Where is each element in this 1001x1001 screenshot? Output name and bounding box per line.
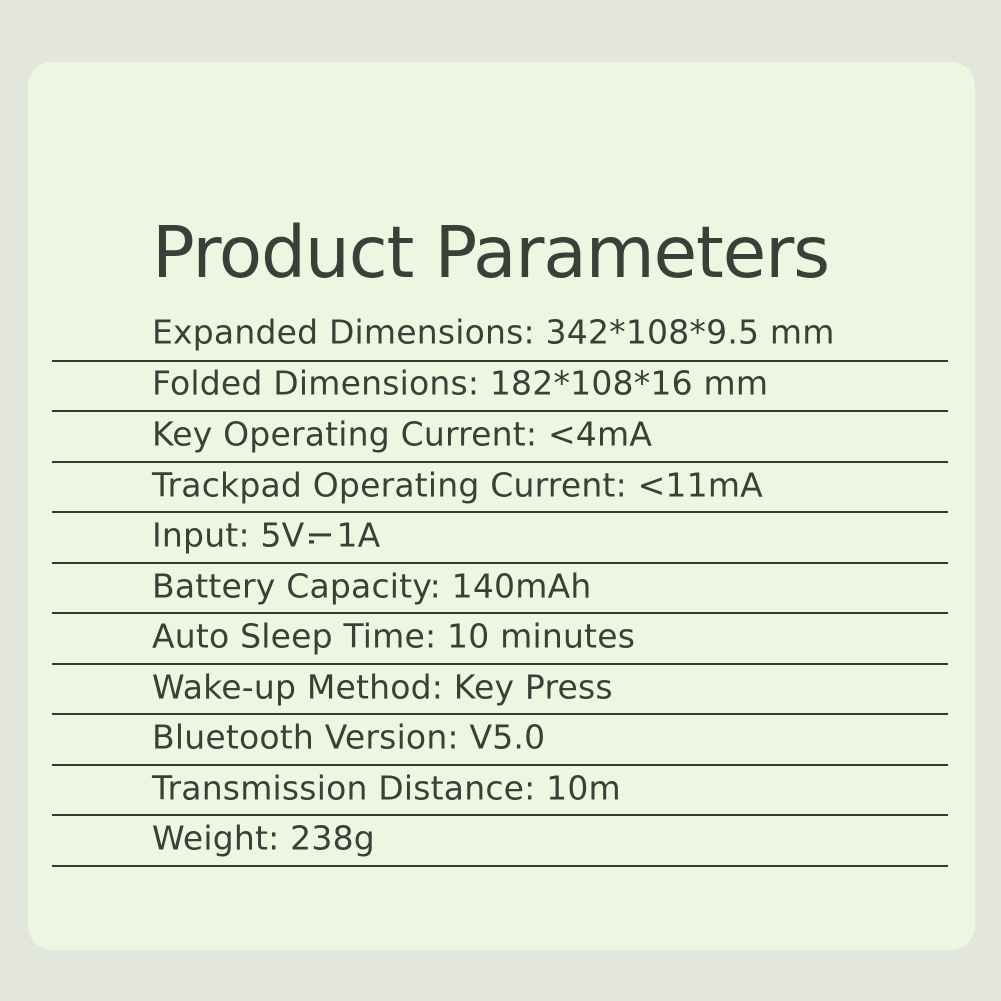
spec-row-text: Bluetooth Version: V5.0 [152, 718, 545, 758]
table-row: Weight: 238g [52, 816, 948, 867]
table-row: Wake-up Method: Key Press [52, 665, 948, 716]
spec-row-text: Folded Dimensions: 182*108*16 mm [152, 363, 768, 403]
table-row: Auto Sleep Time: 10 minutes [52, 614, 948, 665]
table-row: Bluetooth Version: V5.0 [52, 715, 948, 766]
spec-card: Product Parameters Expanded Dimensions: … [28, 62, 975, 950]
table-row: Input: 5V1A [52, 513, 948, 564]
table-row: Transmission Distance: 10m [52, 766, 948, 817]
spec-row-text: Trackpad Operating Current: <11mA [152, 465, 763, 505]
spec-row-text-input: Input: 5V1A [152, 516, 380, 556]
spec-row-text: Weight: 238g [152, 819, 375, 859]
spec-row-text: Transmission Distance: 10m [152, 768, 621, 808]
spec-row-text: Auto Sleep Time: 10 minutes [152, 617, 635, 657]
page-title: Product Parameters [152, 210, 829, 296]
table-row: Expanded Dimensions: 342*108*9.5 mm [52, 311, 948, 362]
spec-row-text: Wake-up Method: Key Press [152, 667, 613, 707]
table-row: Battery Capacity: 140mAh [52, 564, 948, 615]
input-value-before: Input: 5V [152, 516, 304, 555]
input-value-after: 1A [336, 516, 380, 555]
spec-row-text: Expanded Dimensions: 342*108*9.5 mm [152, 313, 835, 353]
spec-row-text: Battery Capacity: 140mAh [152, 566, 591, 606]
table-row: Folded Dimensions: 182*108*16 mm [52, 362, 948, 413]
dc-power-icon [307, 526, 333, 548]
table-row: Trackpad Operating Current: <11mA [52, 463, 948, 514]
spec-row-text: Key Operating Current: <4mA [152, 415, 652, 455]
spec-list: Expanded Dimensions: 342*108*9.5 mm Fold… [52, 311, 948, 867]
table-row: Key Operating Current: <4mA [52, 412, 948, 463]
product-parameters-page: Product Parameters Expanded Dimensions: … [0, 0, 1001, 1001]
